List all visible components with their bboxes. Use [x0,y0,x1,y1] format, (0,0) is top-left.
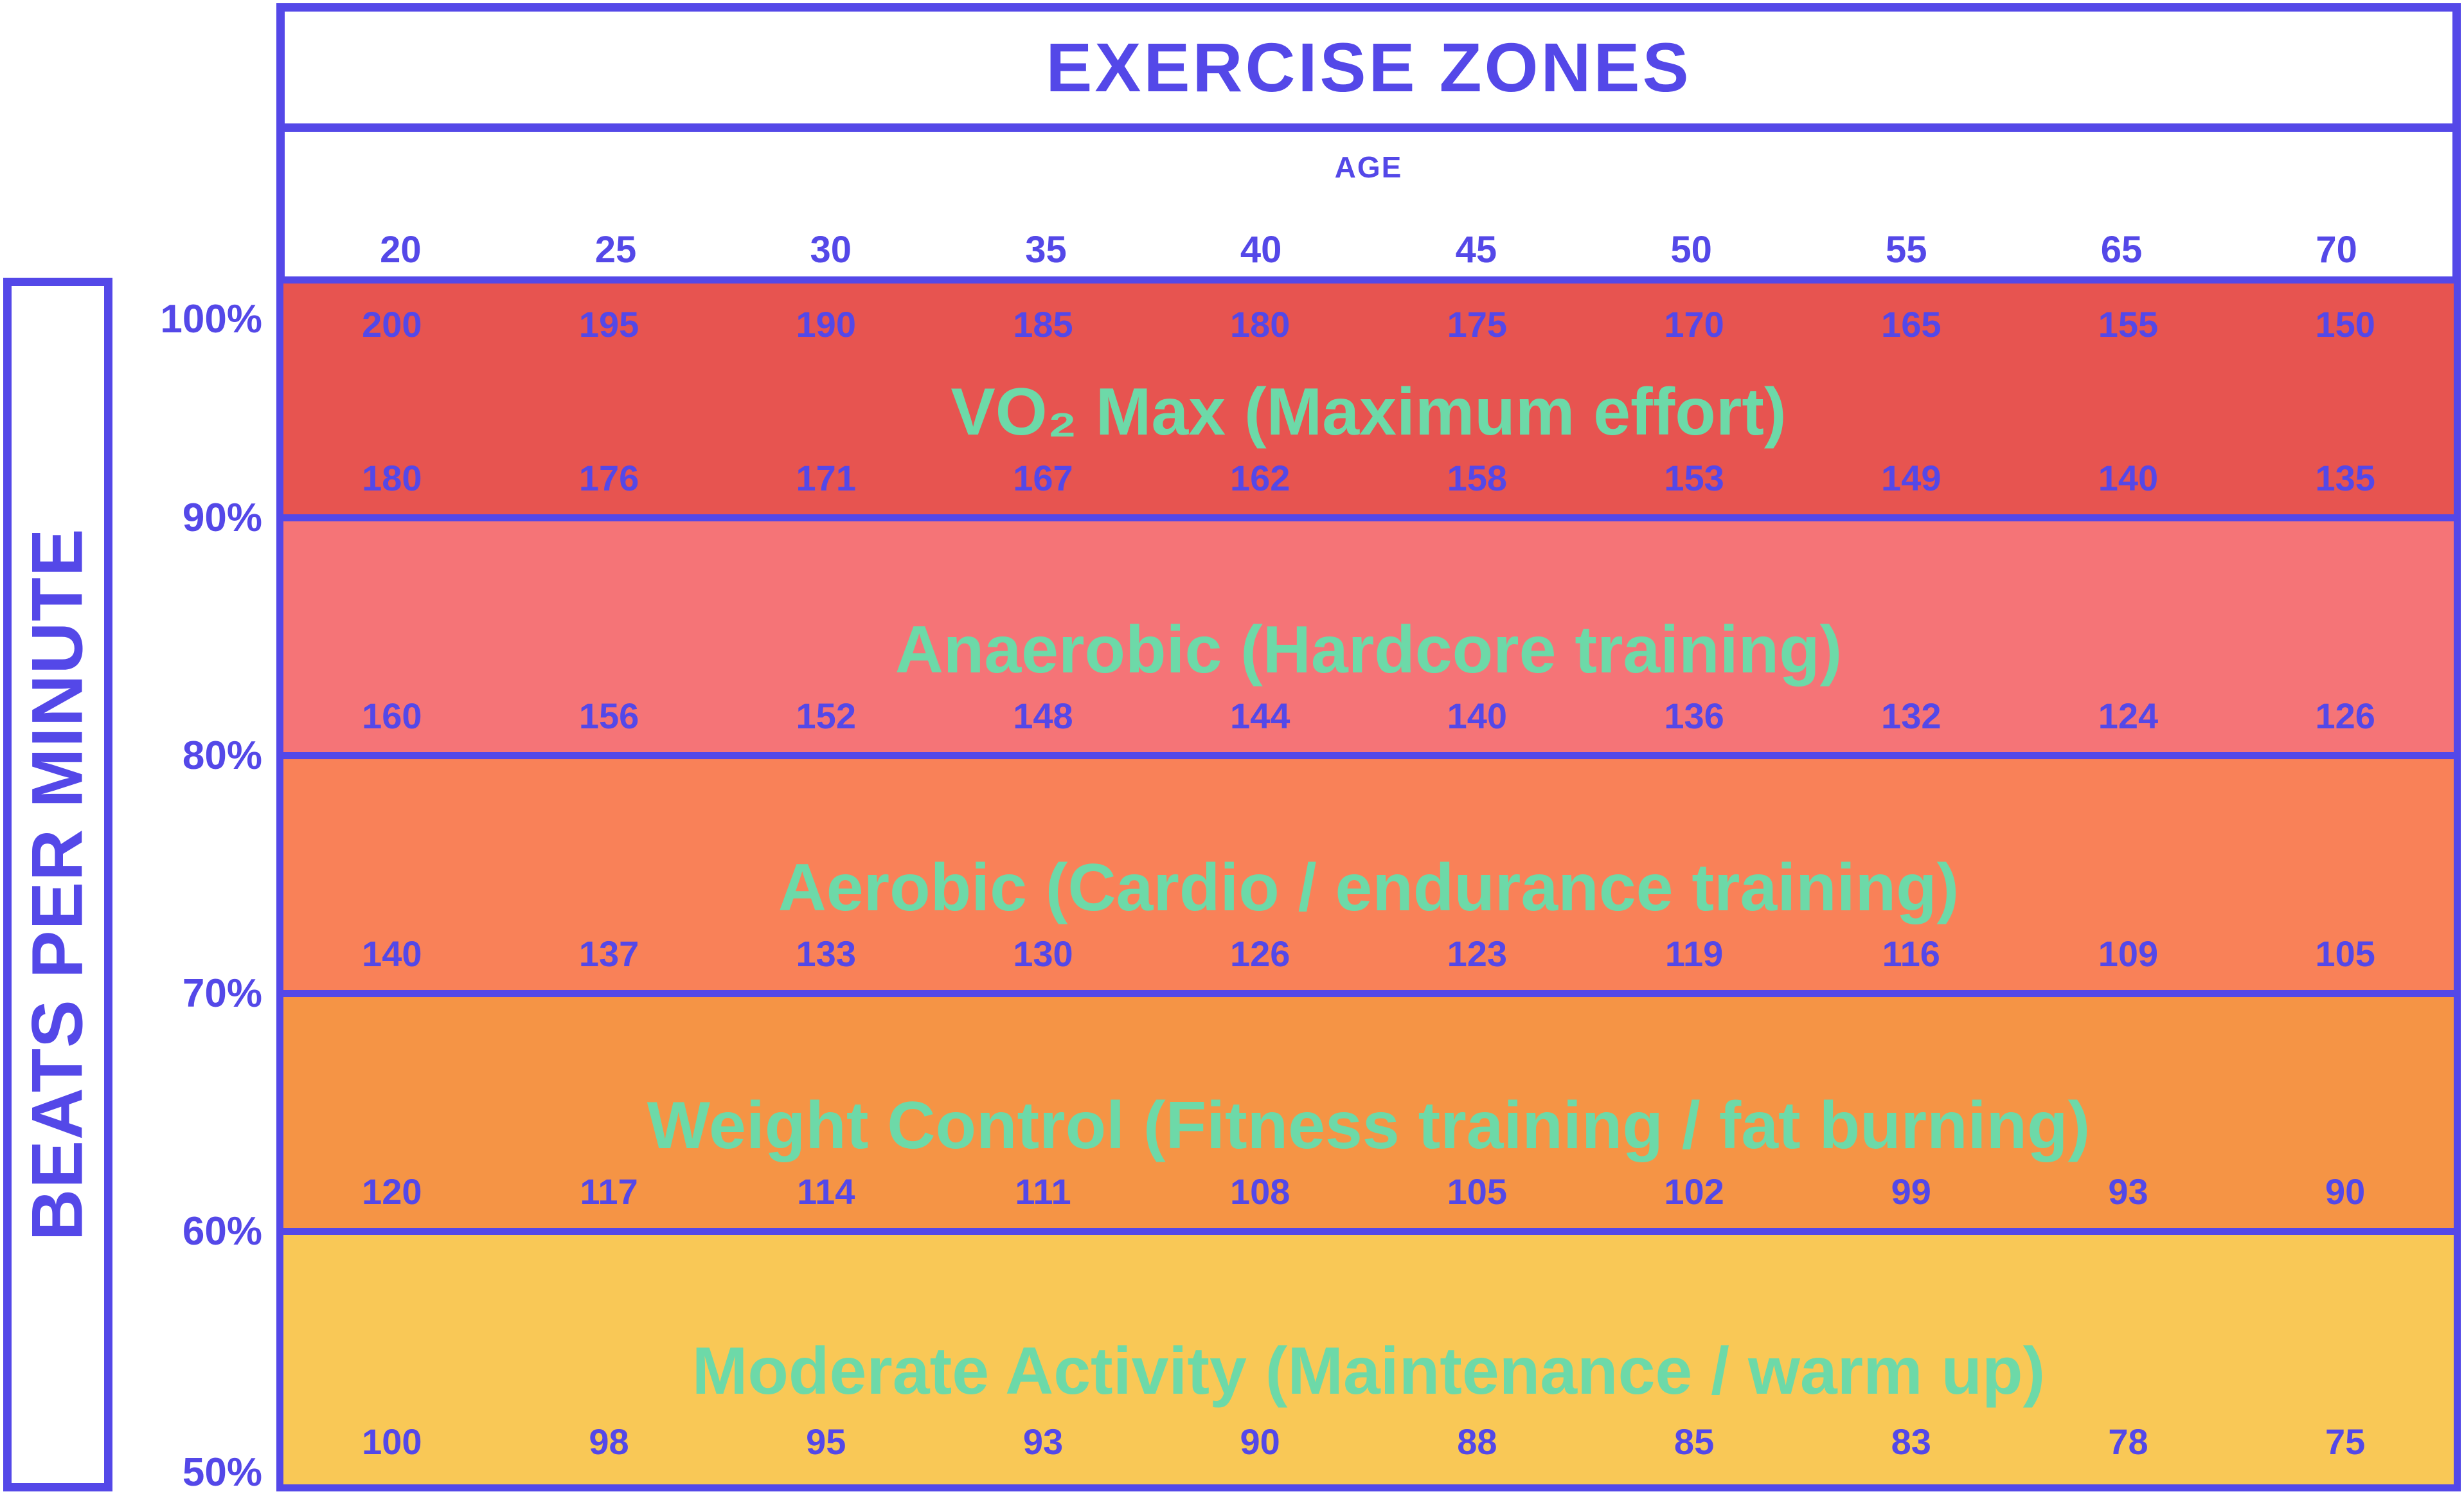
zone-label-moderate-activity: Moderate Activity (Maintenance / warm up… [283,1338,2454,1405]
hr-value: 144 [1152,698,1369,734]
hr-value: 155 [2020,307,2237,343]
age-tick: 35 [938,228,1154,271]
hr-value: 153 [1585,460,1803,496]
hr-value: 126 [1152,936,1369,972]
hr-value: 148 [934,698,1152,734]
hr-value: 88 [1369,1424,1586,1460]
hr-value: 160 [283,698,501,734]
hr-value: 140 [2020,460,2237,496]
hr-value: 95 [717,1424,934,1460]
zone-band-moderate-activity: Moderate Activity (Maintenance / warm up… [276,1228,2461,1491]
beats-per-minute-axis: BEATS PER MINUTE [3,278,112,1491]
hr-value: 111 [934,1174,1152,1210]
hr-value: 117 [501,1174,718,1210]
hr-value: 93 [934,1424,1152,1460]
hr-value: 83 [1803,1424,2020,1460]
hr-value: 152 [717,698,934,734]
percent-tick-90: 90% [183,498,262,538]
zone-row-values-50: 100 98 95 93 90 88 85 83 78 75 [283,1424,2454,1460]
hr-value: 165 [1803,307,2020,343]
hr-value: 119 [1585,936,1803,972]
zone-band-aerobic: Aerobic (Cardio / endurance training) 14… [276,752,2461,997]
zone-label-vo2-max: VO₂ Max (Maximum effort) [283,379,2454,446]
hr-value: 120 [283,1174,501,1210]
hr-value: 137 [501,936,718,972]
hr-value: 133 [717,936,934,972]
zone-label-weight-control: Weight Control (Fitness training / fat b… [283,1092,2454,1159]
hr-value: 116 [1803,936,2020,972]
hr-value: 136 [1585,698,1803,734]
hr-value: 180 [1152,307,1369,343]
percent-tick-80: 80% [183,736,262,776]
age-tick-row: 20 25 30 35 40 45 50 55 65 70 [293,228,2444,271]
hr-value: 123 [1369,936,1586,972]
hr-value: 175 [1369,307,1586,343]
hr-value: 108 [1152,1174,1369,1210]
hr-value: 167 [934,460,1152,496]
zone-band-vo2-max: 200 195 190 185 180 175 170 165 155 150 … [276,276,2461,521]
zone-row-values-70: 140 137 133 130 126 123 119 116 109 105 [283,936,2454,972]
age-tick: 55 [1799,228,2014,271]
hr-value: 171 [717,460,934,496]
zone-row-values-100: 200 195 190 185 180 175 170 165 155 150 [283,307,2454,343]
age-tick: 25 [508,228,724,271]
hr-value: 99 [1803,1174,2020,1210]
page-title: EXERCISE ZONES [1046,33,1691,102]
zone-row-values-90: 180 176 171 167 162 158 153 149 140 135 [283,460,2454,496]
hr-value: 180 [283,460,501,496]
hr-value: 130 [934,936,1152,972]
hr-value: 102 [1585,1174,1803,1210]
hr-value: 162 [1152,460,1369,496]
hr-value: 124 [2020,698,2237,734]
age-tick: 30 [723,228,938,271]
hr-value: 156 [501,698,718,734]
hr-value: 176 [501,460,718,496]
zone-row-values-60: 120 117 114 111 108 105 102 99 93 90 [283,1174,2454,1210]
hr-value: 78 [2020,1424,2237,1460]
age-tick: 45 [1369,228,1584,271]
hr-value: 75 [2236,1424,2454,1460]
age-header: AGE 20 25 30 35 40 45 50 55 65 70 [276,132,2461,276]
zone-band-anaerobic: Anaerobic (Hardcore training) 160 156 15… [276,514,2461,759]
hr-value: 135 [2236,460,2454,496]
age-tick: 40 [1154,228,1369,271]
age-tick: 70 [2229,228,2444,271]
percent-tick-50: 50% [183,1453,262,1493]
zone-band-weight-control: Weight Control (Fitness training / fat b… [276,990,2461,1235]
hr-value: 93 [2020,1174,2237,1210]
hr-value: 126 [2236,698,2454,734]
hr-value: 90 [1152,1424,1369,1460]
percent-tick-70: 70% [183,974,262,1014]
zone-band-stack: 200 195 190 185 180 175 170 165 155 150 … [276,276,2461,1491]
chart-title-box: EXERCISE ZONES [276,3,2461,132]
hr-value: 109 [2020,936,2237,972]
percent-tick-60: 60% [183,1212,262,1252]
hr-value: 158 [1369,460,1586,496]
hr-value: 105 [1369,1174,1586,1210]
hr-value: 105 [2236,936,2454,972]
hr-value: 90 [2236,1174,2454,1210]
beats-per-minute-label: BEATS PER MINUTE [22,528,94,1241]
hr-value: 185 [934,307,1152,343]
age-tick: 50 [1584,228,1799,271]
hr-value: 100 [283,1424,501,1460]
zone-label-anaerobic: Anaerobic (Hardcore training) [283,616,2454,683]
zone-row-values-80: 160 156 152 148 144 140 136 132 124 126 [283,698,2454,734]
hr-value: 114 [717,1174,934,1210]
hr-value: 140 [1369,698,1586,734]
age-axis-label: AGE [285,150,2452,184]
hr-value: 85 [1585,1424,1803,1460]
age-tick: 65 [2014,228,2229,271]
hr-value: 150 [2236,307,2454,343]
percent-tick-column: 100% 90% 80% 70% 60% 50% [116,276,276,1491]
hr-value: 149 [1803,460,2020,496]
percent-tick-100: 100% [160,300,262,339]
hr-value: 140 [283,936,501,972]
hr-value: 200 [283,307,501,343]
hr-value: 190 [717,307,934,343]
hr-value: 98 [501,1424,718,1460]
age-tick: 20 [293,228,508,271]
exercise-zones-chart: BEATS PER MINUTE EXERCISE ZONES AGE 20 2… [0,0,2464,1494]
hr-value: 132 [1803,698,2020,734]
zone-label-aerobic: Aerobic (Cardio / endurance training) [283,854,2454,921]
hr-value: 170 [1585,307,1803,343]
hr-value: 195 [501,307,718,343]
